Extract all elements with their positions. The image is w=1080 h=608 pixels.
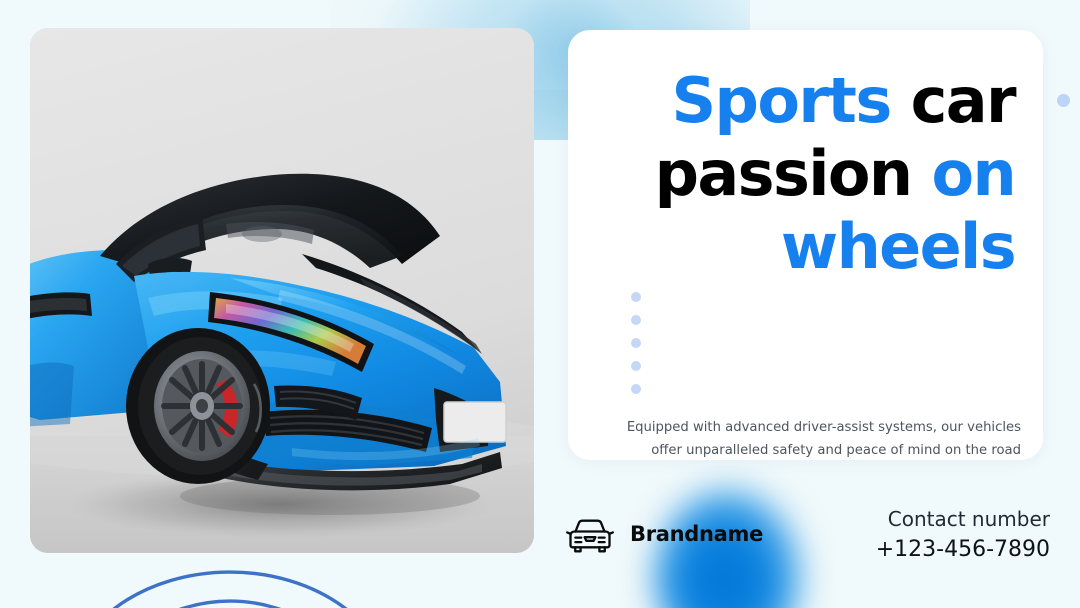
headline-word-on: on [931, 137, 1015, 210]
car-photo [30, 28, 534, 553]
decor-dot-icon [631, 292, 641, 302]
decor-dot-icon [631, 384, 641, 394]
headline-word-car: car [891, 64, 1015, 137]
accent-dot-icon [1057, 94, 1070, 107]
contact-number[interactable]: +123-456-7890 [876, 534, 1050, 566]
decor-dot-icon [631, 338, 641, 348]
poster-canvas: Sports car passion on wheels Equipped wi… [0, 0, 1080, 608]
car-front-icon [562, 512, 618, 556]
dots-decoration [631, 292, 641, 394]
content-card: Sports car passion on wheels Equipped wi… [568, 30, 1043, 460]
brand-name-label: Brandname [630, 522, 763, 546]
page-title: Sports car passion on wheels [598, 64, 1015, 283]
headline-word-sports: Sports [671, 64, 890, 137]
decor-dot-icon [631, 315, 641, 325]
contact-block: Contact number +123-456-7890 [876, 505, 1050, 566]
headline-word-wheels: wheels [781, 210, 1015, 283]
body-paragraph: Equipped with advanced driver-assist sys… [620, 417, 1021, 463]
contact-label: Contact number [876, 505, 1050, 534]
headline-word-passion: passion [655, 137, 932, 210]
decor-dot-icon [631, 361, 641, 371]
brand-lockup[interactable]: Brandname [562, 512, 763, 556]
